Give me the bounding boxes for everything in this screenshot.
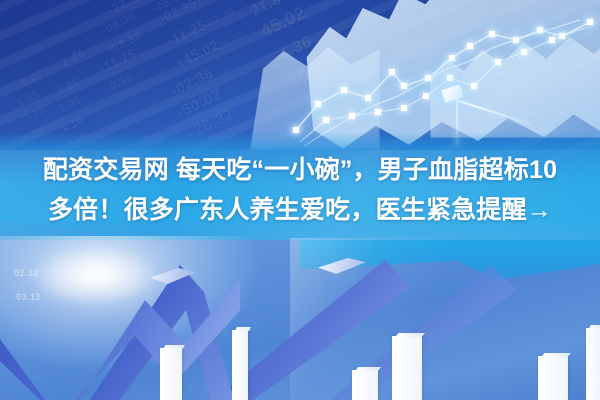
chart-node <box>447 75 453 81</box>
chart-node <box>549 37 555 43</box>
chart-bar <box>586 328 600 400</box>
chart-polyline <box>296 22 590 130</box>
chart-node <box>449 55 455 61</box>
chart-bar-top <box>163 345 185 349</box>
headline: 配资交易网 每天吃“一小碗”，男子血脂超标10 多倍！很多广东人养生爱吃，医生紧… <box>0 150 600 230</box>
chart-node <box>587 19 593 25</box>
chart-bar <box>352 370 378 400</box>
chart-node <box>489 31 495 37</box>
chart-bar-top <box>395 333 425 337</box>
chart-node <box>401 83 407 89</box>
bottom-label: 03.12 <box>16 292 41 302</box>
headline-line-2: 多倍！很多广东人养生爱吃，医生紧急提醒→ <box>0 190 600 230</box>
chart-bar-top <box>541 353 571 357</box>
chart-node <box>495 59 501 65</box>
chart-bar-top <box>355 367 381 371</box>
chart-bar-top <box>235 327 251 331</box>
chart-node <box>401 105 407 111</box>
chart-node <box>341 87 347 93</box>
sparkle-flare <box>30 246 160 306</box>
chart-node <box>559 33 565 39</box>
banner-graphic: 21.845.024.3610.02-22.36-25.36-04.36-02.… <box>0 0 600 400</box>
chart-bar <box>538 356 568 400</box>
chart-node <box>425 75 431 81</box>
chart-node <box>349 113 355 119</box>
chart-node <box>471 83 477 89</box>
chart-node <box>315 101 321 107</box>
bottom-label: 02.32 <box>14 268 39 278</box>
chart-node <box>521 49 527 55</box>
chart-node <box>365 95 371 101</box>
chart-bar <box>232 330 248 400</box>
chart-bar-top <box>589 325 600 329</box>
chart-node <box>375 109 381 115</box>
chart-bar <box>392 336 422 400</box>
headline-line-1: 配资交易网 每天吃“一小碗”，男子血脂超标10 <box>0 150 600 190</box>
chart-bar <box>160 348 182 400</box>
chart-node <box>423 93 429 99</box>
chart-node <box>323 117 329 123</box>
chart-polyline <box>304 20 580 146</box>
chart-node <box>467 43 473 49</box>
chart-node <box>537 27 543 33</box>
chart-node <box>513 37 519 43</box>
chart-polyline <box>300 28 584 142</box>
chart-node <box>389 69 395 75</box>
